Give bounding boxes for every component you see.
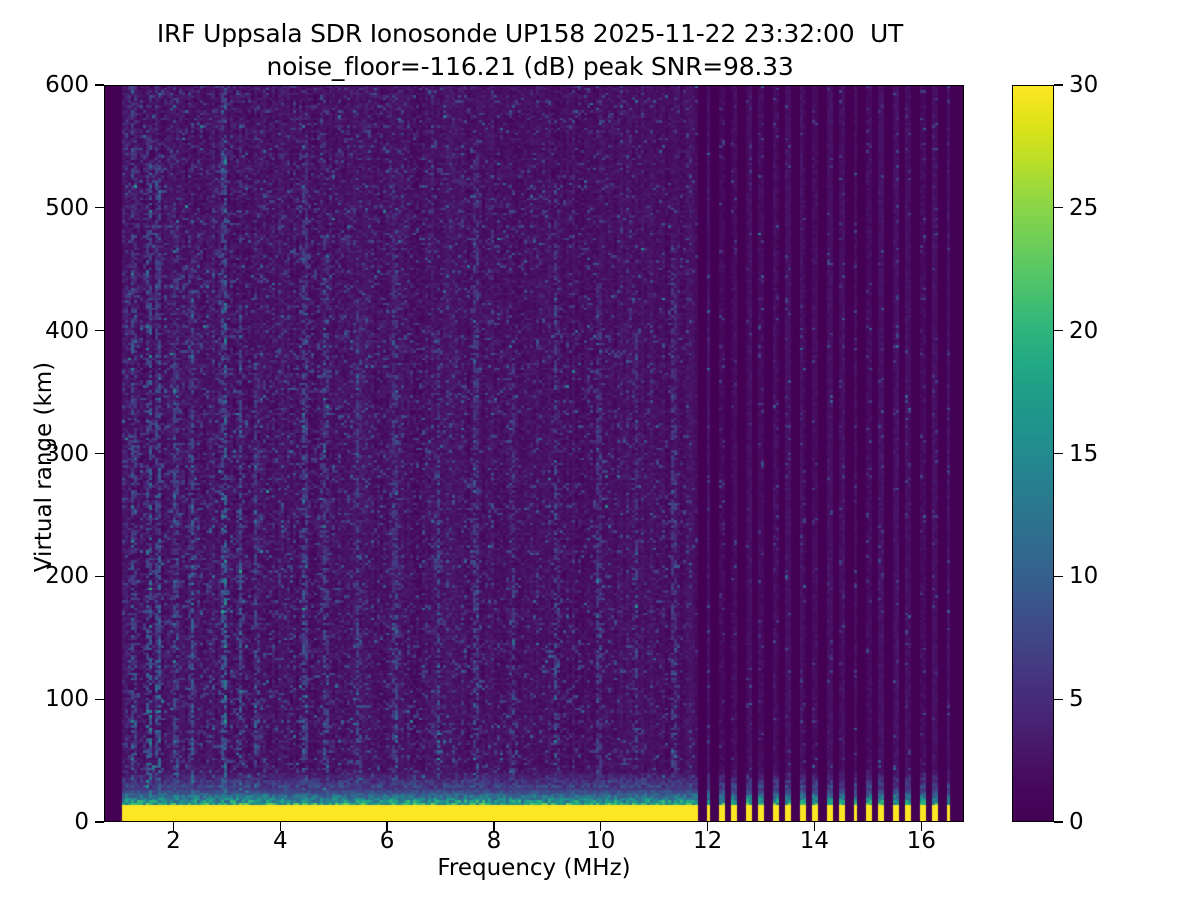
colorbar-tick-mark <box>1054 821 1063 822</box>
x-tick-label: 14 <box>800 828 829 854</box>
colorbar-tick-label: 10 <box>1069 563 1098 589</box>
colorbar-tick-mark <box>1054 453 1063 454</box>
x-tick-label: 8 <box>487 828 502 854</box>
x-tick-label: 2 <box>166 828 181 854</box>
colorbar-tick-label: 0 <box>1069 809 1084 835</box>
x-tick-mark <box>814 822 815 831</box>
x-axis-label: Frequency (MHz) <box>104 855 964 881</box>
y-tick-mark <box>95 330 104 331</box>
x-tick-mark <box>707 822 708 831</box>
colorbar: 051015202530 <box>1012 85 1054 822</box>
colorbar-tick-label: 20 <box>1069 318 1098 344</box>
title-line-secondary: noise_floor=-116.21 (dB) peak SNR=98.33 <box>0 51 1060 84</box>
y-tick-label: 500 <box>45 195 89 221</box>
x-tick-label: 4 <box>273 828 288 854</box>
colorbar-tick-mark <box>1054 576 1063 577</box>
x-tick-mark <box>600 822 601 831</box>
y-tick-mark <box>95 576 104 577</box>
x-tick-mark <box>173 822 174 831</box>
ionogram-figure: IRF Uppsala SDR Ionosonde UP158 2025-11-… <box>0 0 1200 900</box>
colorbar-tick-mark <box>1054 207 1063 208</box>
x-tick-mark <box>493 822 494 831</box>
ionogram-heatmap <box>105 86 964 822</box>
x-tick-mark <box>386 822 387 831</box>
y-axis-label: Virtual range (km) <box>31 337 57 597</box>
figure-title: IRF Uppsala SDR Ionosonde UP158 2025-11-… <box>0 18 1060 83</box>
colorbar-tick-mark <box>1054 699 1063 700</box>
colorbar-tick-label: 5 <box>1069 686 1084 712</box>
x-tick-label: 16 <box>907 828 936 854</box>
colorbar-tick-mark <box>1054 84 1063 85</box>
y-tick-label: 0 <box>74 809 89 835</box>
colorbar-tick-label: 15 <box>1069 441 1098 467</box>
title-line-primary: IRF Uppsala SDR Ionosonde UP158 2025-11-… <box>0 18 1060 51</box>
y-tick-mark <box>95 699 104 700</box>
colorbar-gradient <box>1012 85 1054 822</box>
colorbar-tick-label: 30 <box>1069 72 1098 98</box>
plot-axes <box>104 85 964 822</box>
x-tick-label: 12 <box>693 828 722 854</box>
x-tick-mark <box>921 822 922 831</box>
y-tick-label: 600 <box>45 72 89 98</box>
colorbar-tick-label: 25 <box>1069 195 1098 221</box>
colorbar-tick-mark <box>1054 330 1063 331</box>
x-tick-label: 10 <box>586 828 615 854</box>
y-tick-label: 100 <box>45 686 89 712</box>
x-tick-mark <box>280 822 281 831</box>
y-tick-mark <box>95 453 104 454</box>
y-tick-mark <box>95 207 104 208</box>
y-tick-mark <box>95 821 104 822</box>
y-tick-mark <box>95 84 104 85</box>
x-tick-label: 6 <box>380 828 395 854</box>
